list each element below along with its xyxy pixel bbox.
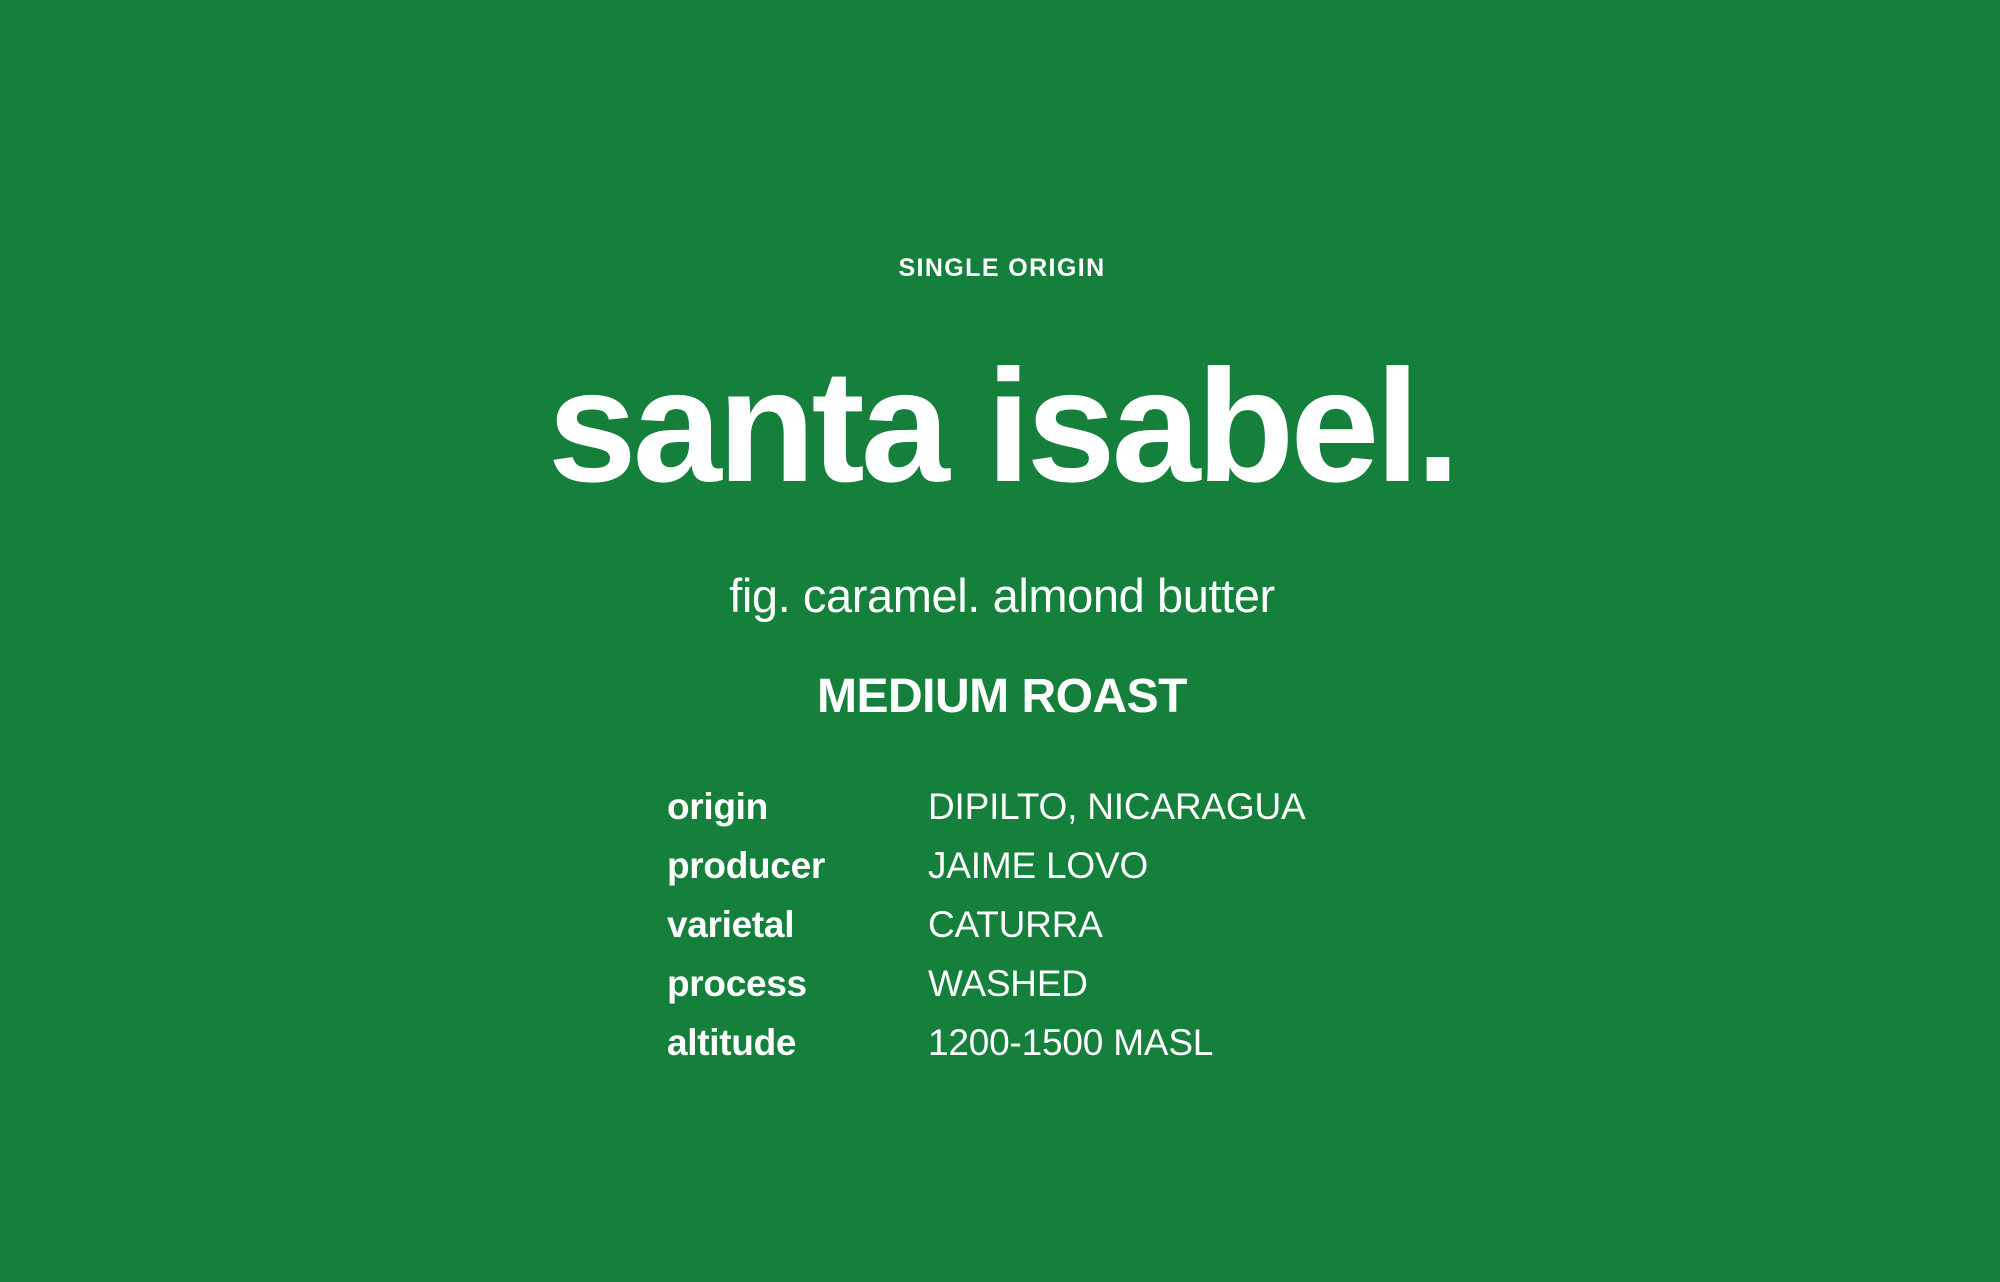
spec-row-origin: origin DIPILTO, NICARAGUA [667, 788, 1305, 847]
spec-row-producer: producer JAIME LOVO [667, 847, 1305, 906]
spec-label-varietal: varietal [667, 906, 928, 943]
tasting-notes: fig. caramel. almond butter [2, 568, 2000, 624]
spec-row-process: process WASHED [667, 965, 1305, 1024]
spec-value-varietal: CATURRA [928, 906, 1103, 943]
spec-row-altitude: altitude 1200-1500 MASL [667, 1024, 1305, 1083]
spec-label-origin: origin [667, 788, 928, 825]
spec-value-producer: JAIME LOVO [928, 847, 1148, 884]
roast-level: MEDIUM ROAST [2, 668, 2000, 726]
spec-label-process: process [667, 965, 928, 1002]
coffee-label-canvas: SINGLE ORIGIN santa isabel. fig. caramel… [0, 0, 2000, 1282]
spec-value-altitude: 1200-1500 MASL [928, 1024, 1213, 1061]
spec-value-origin: DIPILTO, NICARAGUA [928, 788, 1305, 825]
spec-row-varietal: varietal CATURRA [667, 906, 1305, 965]
spec-value-process: WASHED [928, 965, 1088, 1002]
page-title: santa isabel. [2, 346, 2000, 506]
spec-table: origin DIPILTO, NICARAGUA producer JAIME… [667, 788, 1305, 1083]
spec-label-producer: producer [667, 847, 928, 884]
spec-label-altitude: altitude [667, 1024, 928, 1061]
eyebrow-single-origin: SINGLE ORIGIN [2, 256, 2000, 281]
